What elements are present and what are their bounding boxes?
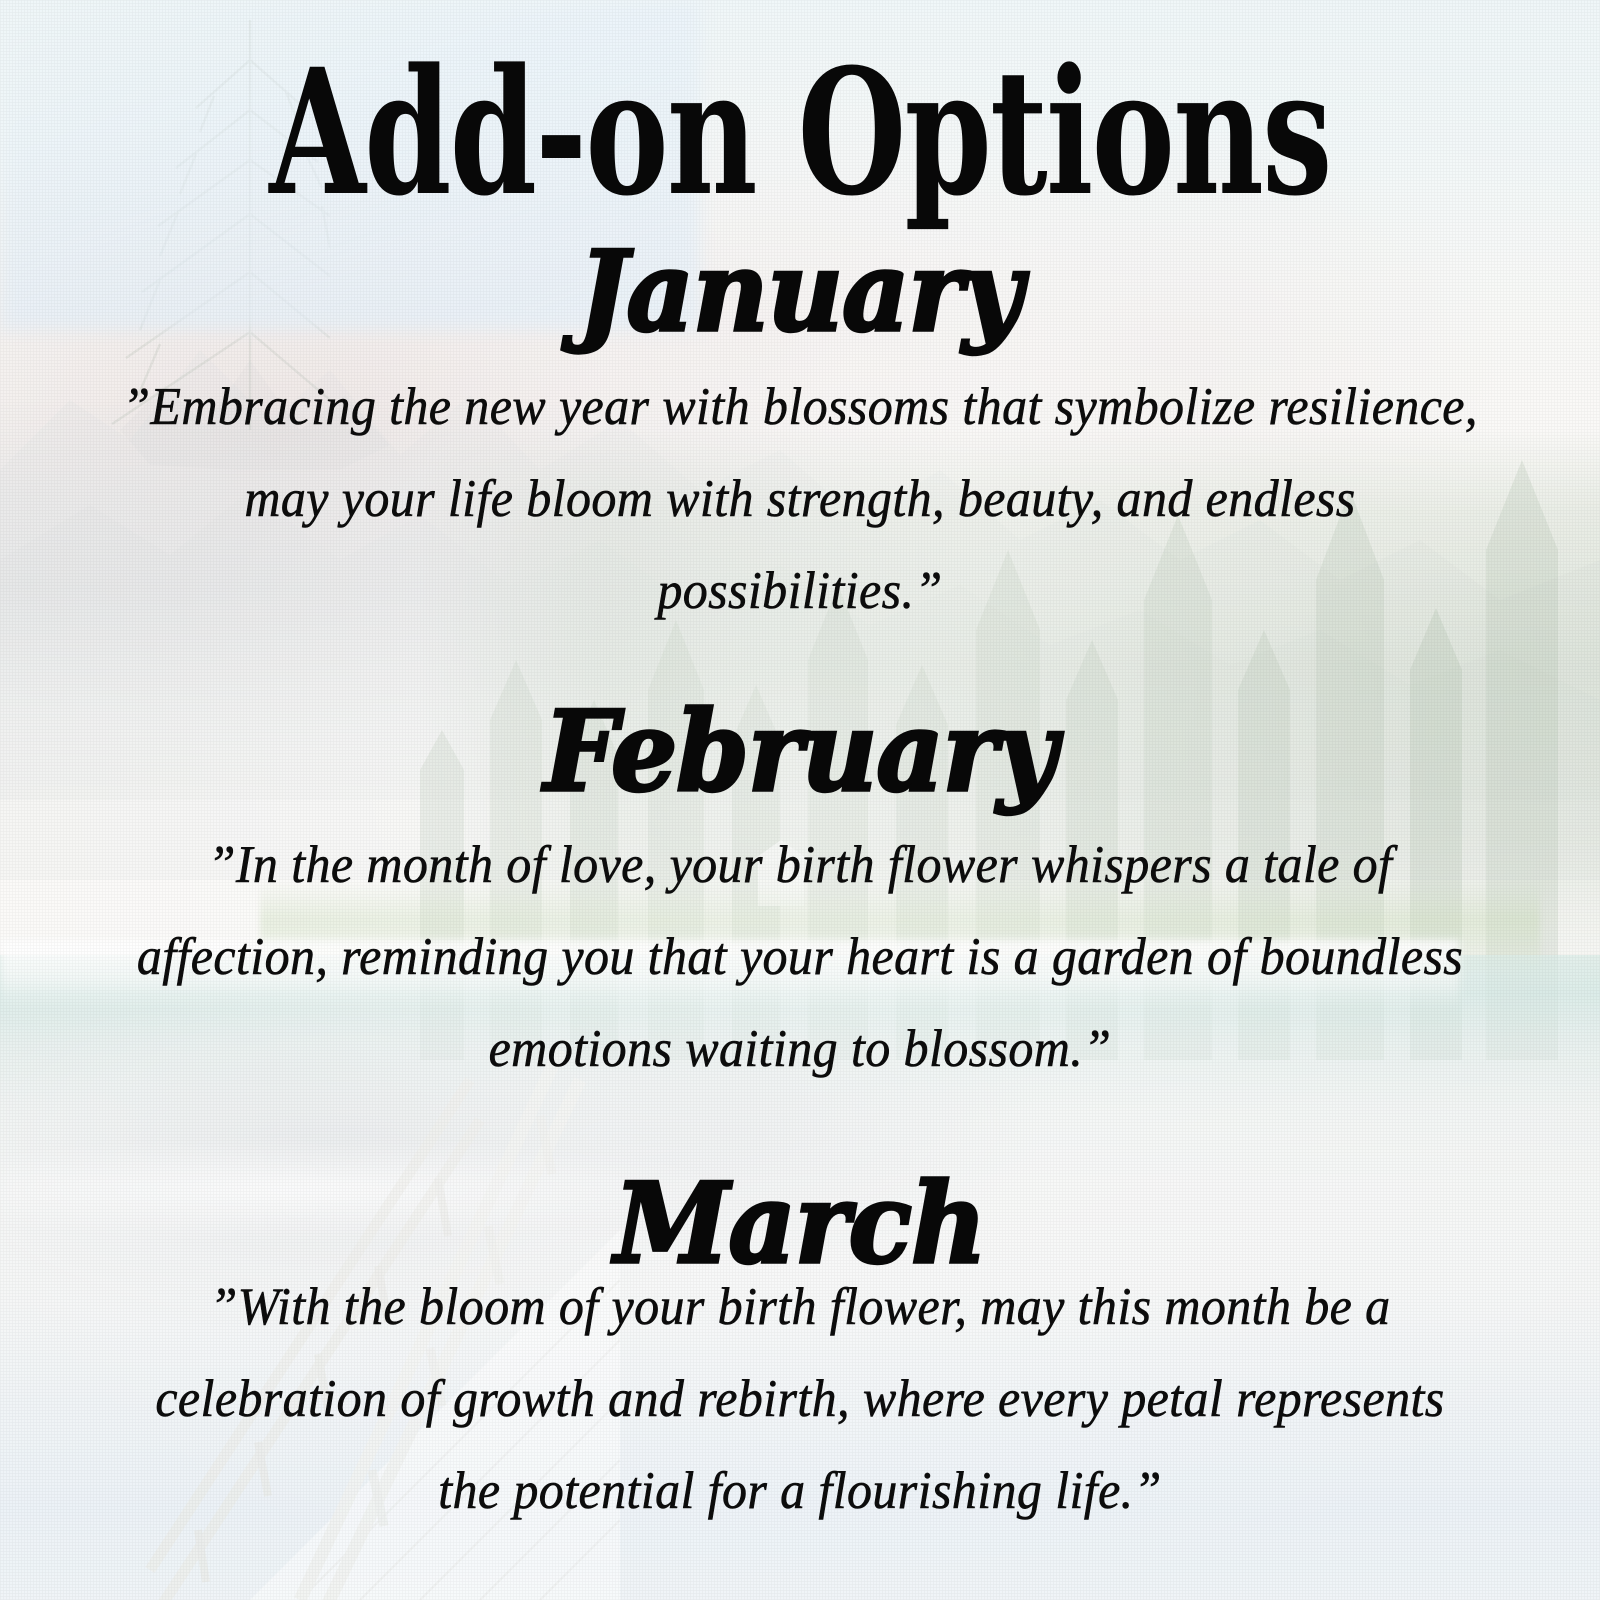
month-heading-february: February: [0, 697, 1600, 807]
month-heading-january: January: [0, 237, 1600, 347]
page-title: Add-on Options: [144, 46, 1456, 219]
month-quote-january: ”Embracing the new year with blossoms th…: [120, 360, 1480, 637]
poster-canvas: Add-on Options January ”Embracing the ne…: [0, 0, 1600, 1600]
month-quote-february: ”In the month of love, your birth flower…: [120, 818, 1480, 1095]
month-quote-march: ”With the bloom of your birth flower, ma…: [120, 1260, 1480, 1537]
poster-content: Add-on Options January ”Embracing the ne…: [0, 0, 1600, 1600]
